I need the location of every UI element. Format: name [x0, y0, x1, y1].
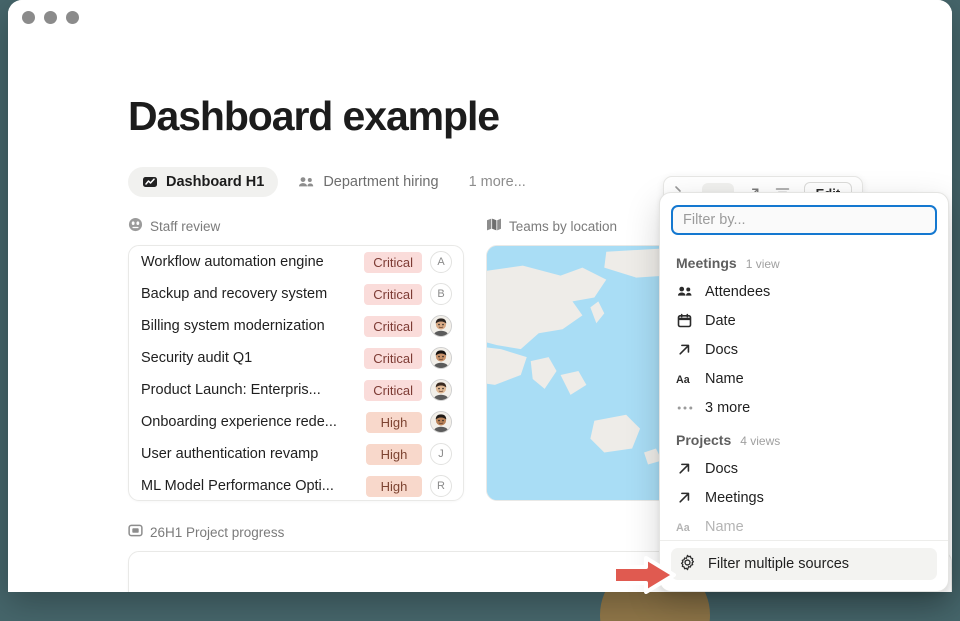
dropdown-item-label: Attendees	[705, 284, 770, 300]
calendar-icon	[676, 313, 693, 328]
task-row[interactable]: Onboarding experience rede...High	[129, 406, 463, 438]
filter-source-dropdown: Meetings1 viewAttendeesDateDocsAaName3 m…	[659, 192, 949, 592]
widget-title: 26H1 Project progress	[150, 525, 284, 540]
task-name: Billing system modernization	[141, 318, 356, 334]
svg-text:Aa: Aa	[676, 374, 691, 386]
dropdown-item-meetings[interactable]: Meetings	[671, 483, 937, 512]
maximize-button[interactable]	[66, 11, 79, 24]
panel-search-area	[660, 193, 948, 241]
dropdown-item-3-more[interactable]: 3 more	[671, 393, 937, 422]
screenshot-stage: Dashboard example Dashboard H1	[0, 0, 960, 621]
dropdown-item-date[interactable]: Date	[671, 306, 937, 335]
window-titlebar	[8, 0, 952, 34]
dropdown-item-attendees[interactable]: Attendees	[671, 277, 937, 306]
avatar[interactable]	[430, 379, 452, 401]
close-button[interactable]	[22, 11, 35, 24]
priority-badge: Critical	[364, 316, 422, 337]
panel-footer: Filter multiple sources	[660, 540, 948, 591]
priority-badge: High	[366, 476, 422, 497]
task-name: Onboarding experience rede...	[141, 414, 358, 430]
widget-staff-review: Staff review Workflow automation engineC…	[128, 217, 464, 501]
dropdown-item-label: 3 more	[705, 400, 750, 416]
avatar[interactable]: A	[430, 251, 452, 273]
people-icon	[676, 284, 693, 299]
avatar[interactable]	[430, 315, 452, 337]
map-icon	[486, 217, 502, 235]
dropdown-item-docs[interactable]: Docs	[671, 454, 937, 483]
task-name: ML Model Performance Opti...	[141, 478, 358, 494]
priority-badge: Critical	[364, 348, 422, 369]
text-aa-icon: Aa	[676, 520, 693, 534]
text-aa-icon: Aa	[676, 372, 693, 386]
task-name: Backup and recovery system	[141, 286, 356, 302]
tab-label: Dashboard H1	[166, 174, 264, 190]
dropdown-item-name[interactable]: AaName	[671, 512, 937, 540]
task-row[interactable]: User authentication revampHighJ	[129, 438, 463, 470]
priority-badge: Critical	[364, 284, 422, 305]
task-name: Security audit Q1	[141, 350, 356, 366]
minimize-button[interactable]	[44, 11, 57, 24]
group-view-count: 1 view	[746, 257, 780, 271]
window-controls	[22, 11, 79, 24]
avatar[interactable]	[430, 347, 452, 369]
gear-icon	[679, 554, 696, 575]
task-name: Workflow automation engine	[141, 254, 356, 270]
avatar[interactable]	[430, 411, 452, 433]
alien-face-icon	[128, 217, 143, 235]
tab-dashboard-h1[interactable]: Dashboard H1	[128, 167, 278, 197]
dropdown-item-label: Name	[705, 519, 744, 535]
priority-badge: High	[366, 444, 422, 465]
arrow-up-right-icon	[676, 342, 693, 357]
task-row[interactable]: ML Model Performance Opti...HighR	[129, 470, 463, 501]
avatar[interactable]: R	[430, 475, 452, 497]
group-header: Meetings1 view	[671, 245, 937, 277]
dropdown-item-name[interactable]: AaName	[671, 364, 937, 393]
footer-label: Filter multiple sources	[708, 556, 849, 572]
arrow-up-right-icon	[676, 461, 693, 476]
arrow-up-right-icon	[676, 490, 693, 505]
dropdown-item-label: Docs	[705, 342, 738, 358]
screen-icon	[128, 523, 143, 541]
dropdown-item-label: Meetings	[705, 490, 764, 506]
task-name: Product Launch: Enterpris...	[141, 382, 356, 398]
task-list: Workflow automation engineCriticalABacku…	[128, 245, 464, 501]
task-row[interactable]: Workflow automation engineCriticalA	[129, 246, 463, 278]
tabs-more-button[interactable]: 1 more...	[459, 167, 536, 197]
people-icon	[298, 174, 315, 190]
priority-badge: Critical	[364, 380, 422, 401]
task-row[interactable]: Backup and recovery systemCriticalB	[129, 278, 463, 310]
group-view-count: 4 views	[740, 434, 780, 448]
svg-text:Aa: Aa	[676, 522, 691, 534]
priority-badge: High	[366, 412, 422, 433]
task-row[interactable]: Billing system modernizationCritical	[129, 310, 463, 342]
tab-label: Department hiring	[323, 174, 438, 190]
widget-title: Teams by location	[509, 219, 617, 234]
widget-header: Staff review	[128, 217, 464, 235]
avatar[interactable]: J	[430, 443, 452, 465]
dropdown-item-label: Docs	[705, 461, 738, 477]
annotation-arrow	[612, 556, 676, 594]
widget-title: Staff review	[150, 219, 220, 234]
dropdown-item-label: Date	[705, 313, 736, 329]
avatar[interactable]: B	[430, 283, 452, 305]
group-title: Meetings	[676, 255, 737, 271]
group-title: Projects	[676, 432, 731, 448]
task-row[interactable]: Security audit Q1Critical	[129, 342, 463, 374]
filter-search-input[interactable]	[671, 205, 937, 235]
task-name: User authentication revamp	[141, 446, 358, 462]
priority-badge: Critical	[364, 252, 422, 273]
task-row[interactable]: Product Launch: Enterpris...Critical	[129, 374, 463, 406]
tab-department-hiring[interactable]: Department hiring	[284, 167, 452, 197]
filter-multiple-sources-button[interactable]: Filter multiple sources	[671, 548, 937, 580]
dropdown-item-label: Name	[705, 371, 744, 387]
chart-icon	[142, 174, 158, 190]
page-title: Dashboard example	[128, 96, 952, 137]
group-header: Projects4 views	[671, 422, 937, 454]
dropdown-item-docs[interactable]: Docs	[671, 335, 937, 364]
panel-groups: Meetings1 viewAttendeesDateDocsAaName3 m…	[660, 241, 948, 540]
ellipsis-icon	[676, 405, 693, 411]
